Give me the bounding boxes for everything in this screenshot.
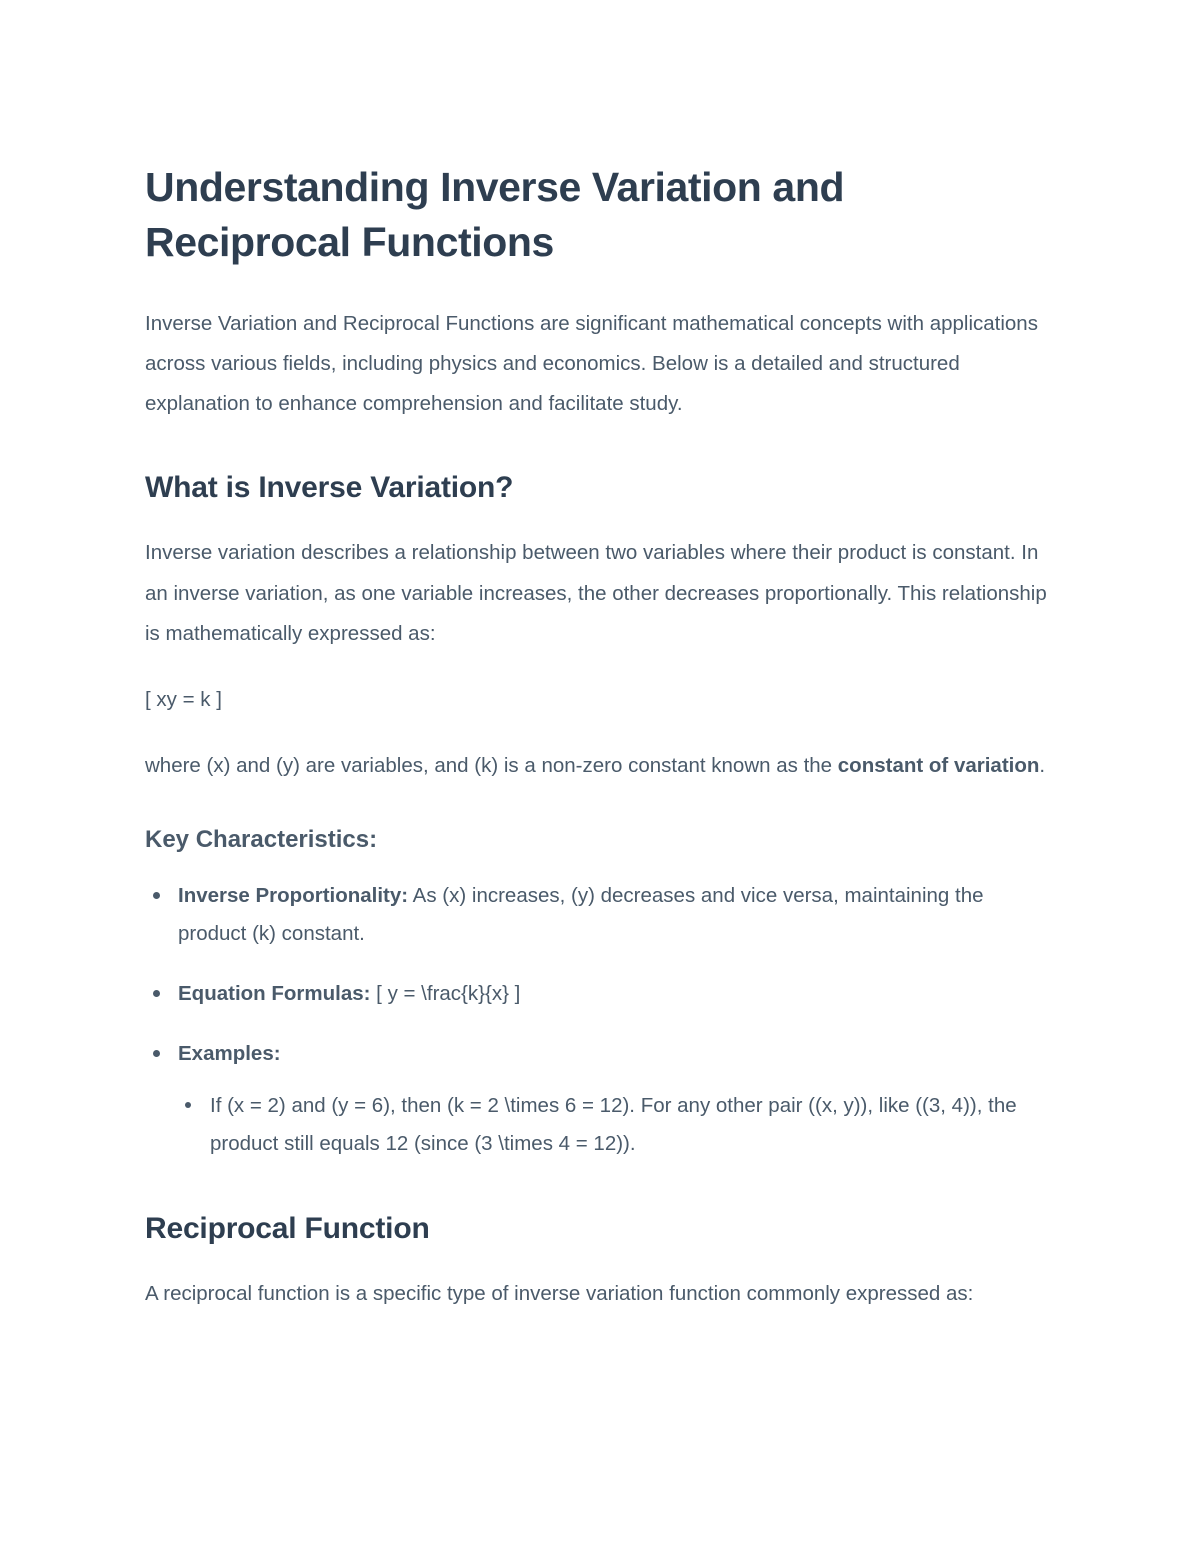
list-item-label: Inverse Proportionality: — [178, 884, 408, 907]
reciprocal-function-paragraph: A reciprocal function is a specific type… — [145, 1274, 1055, 1314]
list-item-label: Equation Formulas: — [178, 982, 370, 1005]
definition-prefix: where (x) and (y) are variables, and (k)… — [145, 754, 838, 777]
examples-sublist: If (x = 2) and (y = 6), then (k = 2 \tim… — [178, 1087, 1055, 1163]
list-item: If (x = 2) and (y = 6), then (k = 2 \tim… — [178, 1087, 1055, 1163]
section-heading-inverse-variation: What is Inverse Variation? — [145, 468, 1055, 507]
key-characteristics-heading: Key Characteristics: — [145, 824, 1055, 855]
intro-paragraph: Inverse Variation and Reciprocal Functio… — [145, 304, 1055, 425]
inverse-variation-formula: [ xy = k ] — [145, 680, 1055, 720]
definition-suffix: . — [1039, 754, 1045, 777]
key-characteristics-list: Inverse Proportionality: As (x) increase… — [145, 877, 1055, 1163]
page-title: Understanding Inverse Variation and Reci… — [145, 160, 1025, 270]
section-heading-reciprocal-function: Reciprocal Function — [145, 1209, 1055, 1248]
list-item: Inverse Proportionality: As (x) increase… — [145, 877, 1055, 953]
definition-strong-term: constant of variation — [838, 754, 1040, 777]
list-item: Equation Formulas: [ y = \frac{k}{x} ] — [145, 975, 1055, 1013]
list-item-label: Examples: — [178, 1042, 281, 1065]
document-page: Understanding Inverse Variation and Reci… — [0, 0, 1200, 1553]
inverse-variation-paragraph: Inverse variation describes a relationsh… — [145, 533, 1055, 654]
list-item: Examples: If (x = 2) and (y = 6), then (… — [145, 1035, 1055, 1163]
list-item-text: [ y = \frac{k}{x} ] — [370, 982, 520, 1005]
constant-of-variation-definition: where (x) and (y) are variables, and (k)… — [145, 746, 1055, 786]
